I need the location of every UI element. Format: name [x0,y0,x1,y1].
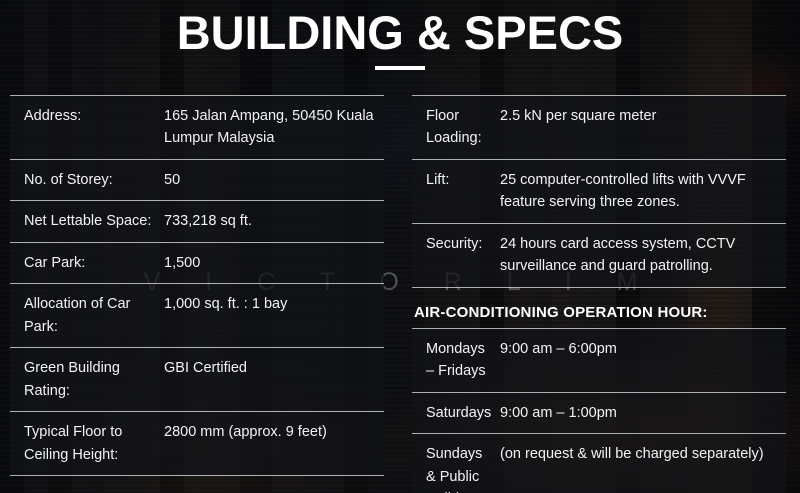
air-conditioning-table: Mondays – Fridays9:00 am – 6:00pmSaturda… [412,328,786,493]
table-row: Address:165 Jalan Ampang, 50450 Kuala Lu… [10,96,384,160]
operation-hour-value: (on request & will be charged separately… [500,434,786,493]
table-row: Security:24 hours card access system, CC… [412,223,786,287]
air-conditioning-heading: AIR-CONDITIONING OPERATION HOUR: [414,304,786,321]
spec-label: Address: [10,96,164,160]
spec-label: Floor Loading: [412,96,500,160]
title-underline [375,66,425,70]
table-row: Typical Floor to Ceiling Height:2800 mm … [10,412,384,476]
spec-value: 165 Jalan Ampang, 50450 Kuala Lumpur Mal… [164,96,384,160]
operation-hour-label: Mondays – Fridays [412,328,500,392]
spec-value: 1,500 [164,242,384,283]
spec-label: Car Park: [10,242,164,283]
table-row: Green Building Rating:GBI Certified [10,348,384,412]
left-spec-table: Address:165 Jalan Ampang, 50450 Kuala Lu… [10,95,384,476]
spec-label: Lift: [412,159,500,223]
air-conditioning-body: Mondays – Fridays9:00 am – 6:00pmSaturda… [412,328,786,493]
spec-value: 2.5 kN per square meter [500,96,786,160]
left-column: Address:165 Jalan Ampang, 50450 Kuala Lu… [10,95,384,476]
table-row: Sundays & Public Holidays(on request & w… [412,434,786,493]
table-row: No. of Storey:50 [10,159,384,200]
spec-label: Green Building Rating: [10,348,164,412]
operation-hour-label: Sundays & Public Holidays [412,434,500,493]
spec-value: 25 computer-controlled lifts with VVVF f… [500,159,786,223]
table-row: Floor Loading:2.5 kN per square meter [412,96,786,160]
spec-value: GBI Certified [164,348,384,412]
building-specs-page: V I C T O R L I M BUILDING & SPECS Addre… [0,0,800,493]
specs-columns: Address:165 Jalan Ampang, 50450 Kuala Lu… [0,0,800,493]
table-row: Net Lettable Space:733,218 sq ft. [10,201,384,242]
right-column: Floor Loading:2.5 kN per square meterLif… [412,95,786,493]
spec-value: 50 [164,159,384,200]
spec-label: Allocation of Car Park: [10,284,164,348]
air-conditioning-section: AIR-CONDITIONING OPERATION HOUR: Mondays… [412,304,786,493]
spec-value: 1,000 sq. ft. : 1 bay [164,284,384,348]
page-header: BUILDING & SPECS [0,8,800,70]
operation-hour-value: 9:00 am – 6:00pm [500,328,786,392]
spec-label: Typical Floor to Ceiling Height: [10,412,164,476]
page-title: BUILDING & SPECS [0,8,800,57]
table-row: Allocation of Car Park:1,000 sq. ft. : 1… [10,284,384,348]
right-spec-body: Floor Loading:2.5 kN per square meterLif… [412,96,786,288]
spec-value: 2800 mm (approx. 9 feet) [164,412,384,476]
table-row: Car Park:1,500 [10,242,384,283]
spec-label: Net Lettable Space: [10,201,164,242]
left-spec-body: Address:165 Jalan Ampang, 50450 Kuala Lu… [10,96,384,476]
spec-label: No. of Storey: [10,159,164,200]
table-row: Saturdays9:00 am – 1:00pm [412,392,786,433]
table-row: Lift:25 computer-controlled lifts with V… [412,159,786,223]
spec-label: Security: [412,223,500,287]
table-row: Mondays – Fridays9:00 am – 6:00pm [412,328,786,392]
spec-value: 733,218 sq ft. [164,201,384,242]
spec-value: 24 hours card access system, CCTV survei… [500,223,786,287]
operation-hour-value: 9:00 am – 1:00pm [500,392,786,433]
operation-hour-label: Saturdays [412,392,500,433]
right-spec-table: Floor Loading:2.5 kN per square meterLif… [412,95,786,288]
